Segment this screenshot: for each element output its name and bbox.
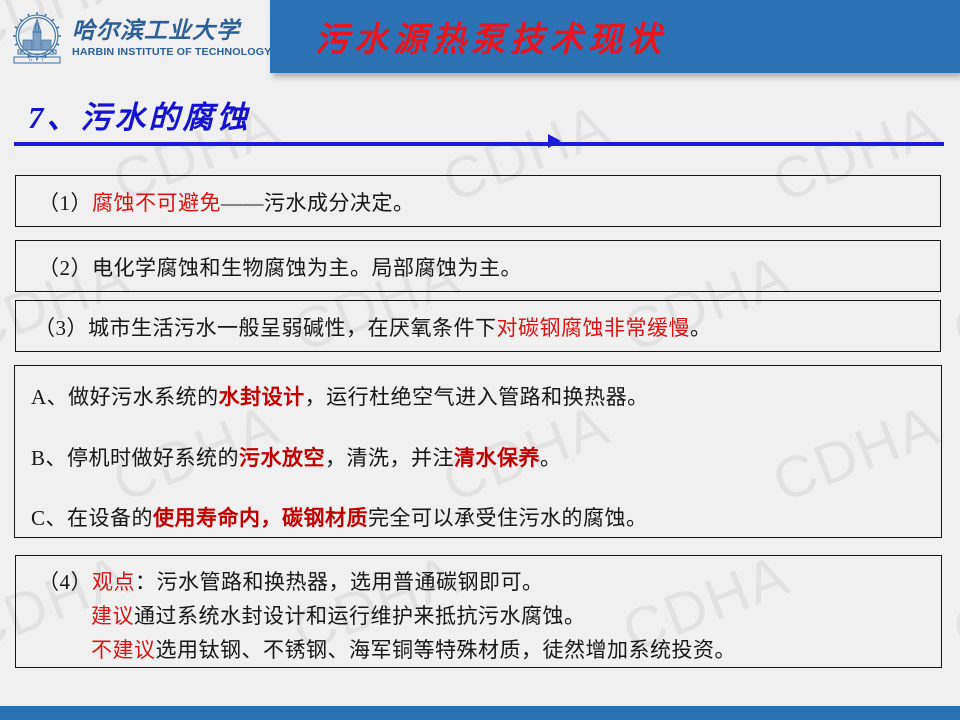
text-run: （3）城市生活污水一般呈弱碱性，在厌氧条件下 (34, 316, 497, 340)
heading-divider-rule (14, 142, 944, 146)
text-run: 使用寿命内，碳钢材质 (153, 506, 368, 530)
university-name-en: HARBIN INSTITUTE OF TECHNOLOGY (72, 47, 271, 58)
text-run: 。 (540, 446, 562, 470)
box-text-line: A、做好污水系统的水封设计，运行杜绝空气进入管路和换热器。 (31, 381, 649, 411)
text-run: 。 (690, 316, 712, 340)
text-run: 水封设计 (219, 385, 305, 409)
text-run: 观点 (92, 570, 135, 594)
box-text-line: （1）腐蚀不可避免——污水成分决定。 (38, 187, 415, 217)
footer-bar (0, 706, 960, 720)
university-logo-text: 哈尔滨工业大学 HARBIN INSTITUTE OF TECHNOLOGY (72, 19, 268, 58)
watermark-text: CDHA (944, 541, 960, 665)
content-box-1: （1）腐蚀不可避免——污水成分决定。 (15, 175, 941, 227)
text-run: 清水保养 (454, 446, 540, 470)
text-run: （1） (38, 191, 92, 215)
hit-university-emblem-icon: 1920 H I T (8, 10, 66, 66)
text-run: B、停机时做好系统的 (31, 446, 239, 470)
box-text-line: （2）电化学腐蚀和生物腐蚀为主。局部腐蚀为主。 (38, 252, 522, 282)
slide-header: 1920 H I T 哈尔滨工业大学 HARBIN INSTITUTE OF T… (0, 0, 960, 80)
text-run: 腐蚀不可避免 (92, 191, 221, 215)
text-run: 不建议 (91, 638, 156, 662)
text-run: 对碳钢腐蚀非常缓慢 (497, 316, 691, 340)
text-run: 建议 (91, 604, 134, 628)
university-logo: 1920 H I T 哈尔滨工业大学 HARBIN INSTITUTE OF T… (8, 8, 264, 68)
text-run: 通过系统水封设计和运行维护来抵抗污水腐蚀。 (134, 604, 586, 628)
content-box-5: （4）观点：污水管路和换热器，选用普通碳钢即可。建议通过系统水封设计和运行维护来… (15, 555, 942, 668)
box-text-line: 不建议选用钛钢、不锈钢、海军铜等特殊材质，徒然增加系统投资。 (91, 634, 736, 664)
text-run: ，清洗，并注 (325, 446, 454, 470)
box-text-line: C、在设备的使用寿命内，碳钢材质完全可以承受住污水的腐蚀。 (31, 502, 648, 532)
box-text-line: 建议通过系统水封设计和运行维护来抵抗污水腐蚀。 (91, 600, 586, 630)
slide-title-bar: 污水源热泵技术现状 (270, 0, 960, 73)
content-box-4: A、做好污水系统的水封设计，运行杜绝空气进入管路和换热器。B、停机时做好系统的污… (14, 365, 942, 538)
content-box-2: （2）电化学腐蚀和生物腐蚀为主。局部腐蚀为主。 (15, 240, 941, 292)
text-run: （2）电化学腐蚀和生物腐蚀为主。局部腐蚀为主。 (38, 256, 522, 280)
right-arrow-icon (548, 134, 561, 148)
text-run: 完全可以承受住污水的腐蚀。 (368, 506, 648, 530)
text-run: A、做好污水系统的 (31, 385, 219, 409)
text-run: ，运行杜绝空气进入管路和换热器。 (305, 385, 649, 409)
content-box-3: （3）城市生活污水一般呈弱碱性，在厌氧条件下对碳钢腐蚀非常缓慢。 (15, 300, 941, 352)
box-text-line: （4）观点：污水管路和换热器，选用普通碳钢即可。 (38, 566, 544, 596)
text-run: 污水放空 (239, 446, 325, 470)
svg-text:H I T: H I T (29, 58, 45, 63)
text-run: ：污水管路和换热器，选用普通碳钢即可。 (135, 570, 544, 594)
text-run: C、在设备的 (31, 506, 153, 530)
section-heading: 7、污水的腐蚀 (28, 92, 251, 137)
text-run: 选用钛钢、不锈钢、海军铜等特殊材质，徒然增加系统投资。 (156, 638, 737, 662)
watermark-text: CDHA (944, 241, 960, 365)
slide-title: 污水源热泵技术现状 (315, 12, 666, 61)
text-run: （4） (38, 570, 92, 594)
university-name-cn: 哈尔滨工业大学 (72, 19, 268, 42)
text-run: ——污水成分决定。 (221, 191, 415, 215)
box-text-line: B、停机时做好系统的污水放空，清洗，并注清水保养。 (31, 442, 562, 472)
box-text-line: （3）城市生活污水一般呈弱碱性，在厌氧条件下对碳钢腐蚀非常缓慢。 (34, 312, 712, 342)
